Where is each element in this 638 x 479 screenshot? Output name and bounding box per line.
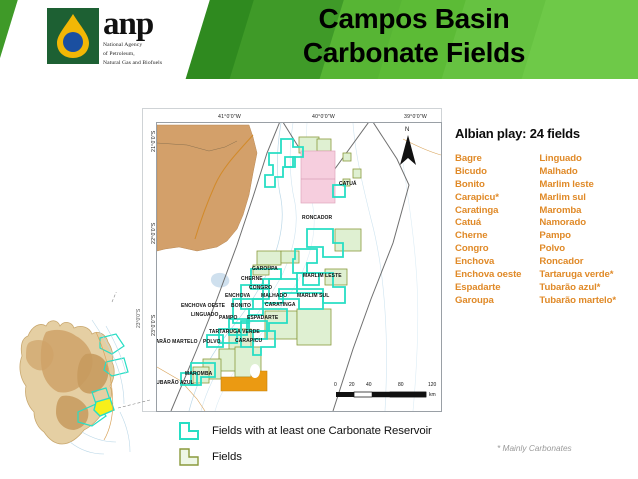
oil-drop-icon [55,13,91,59]
lon-label-39w: 39°0'0"W [404,114,427,120]
scalebar-graphic [336,391,442,399]
field-name: Enchova [455,256,521,269]
north-arrow-icon [399,135,417,167]
lon-label-41w: 41°0'0"W [218,114,241,120]
logo-subtitle-line1: National Agency [103,41,162,49]
page-title: Campos Basin Carbonate Fields [204,2,624,70]
scalebar-unit: km [429,392,436,398]
map-field-label-maromba: MAROMBA [185,371,212,377]
field-name: Tartaruga verde* [539,269,616,282]
page-header: anp National Agency of Petroleum, Natura… [0,0,638,79]
logo-subtitle-line2: of Petroleum, [103,50,162,58]
field-name: Roncador [539,256,616,269]
logo-subtitle-line3: Natural Gas and Biofuels [103,59,162,67]
carbonate-field-polygon-icon [178,421,200,441]
map-field-label-carapicu: CARAPICU [235,338,262,344]
albian-play-panel: Albian play: 24 fields Bagre Bicudo Boni… [455,126,635,308]
scalebar-tick-20: 20 [349,382,355,388]
map-field-label-congro: CONGRO [249,285,272,291]
field-name: Enchova oeste [455,269,521,282]
map-field-label-polvo: POLVO [203,339,221,345]
map-field-label-catua: CATUÁ [339,181,357,187]
legend-label: Fields [212,451,242,463]
map-field-label-cherne: CHERNE [241,276,263,282]
lon-label-40w: 40°0'0"W [312,114,335,120]
map-field-label-bonito: BONITO [231,303,251,309]
field-name: Polvo [539,243,616,256]
field-name: Caratinga [455,205,521,218]
scalebar-tick-120: 120 [428,382,436,388]
legend-label: Fields with at least one Carbonate Reser… [212,425,432,437]
field-polygon-icon [178,447,200,467]
map-field-label-tartaruga-verde: TARTARUGA VERDE [209,329,260,335]
field-name: Cherne [455,230,521,243]
brazil-inset-map: 23°0'0"S [0,292,150,472]
field-name: Linguado [539,153,616,166]
anp-logo: anp National Agency of Petroleum, Natura… [47,8,171,68]
map-field-label-enchova-oeste: ENCHOVA OESTE [181,303,225,309]
map-field-label-linguado: LINGUADO [191,312,218,318]
logo-wordmark-group: anp National Agency of Petroleum, Natura… [103,10,162,68]
map-frame[interactable]: CATUÁ RONCADOR GAROUPA CHERNE CONGRO MAR… [156,122,442,412]
field-name: Bicudo [455,166,521,179]
field-name: Tubarão martelo* [539,295,616,308]
field-name: Espadarte [455,282,521,295]
field-name: Bagre [455,153,521,166]
field-list-column-left: Bagre Bicudo Bonito Carapicu* Caratinga … [455,153,521,308]
scalebar-tick-0: 0 [334,382,337,388]
field-name: Catuá [455,217,521,230]
field-name: Bonito [455,179,521,192]
field-name: Marlim leste [539,179,616,192]
legend-item-carbonate: Fields with at least one Carbonate Reser… [178,418,478,444]
field-list-column-right: Linguado Malhado Marlim leste Marlim sul… [539,153,616,308]
scalebar-tick-40: 40 [366,382,372,388]
map-field-label-malhado: MALHADO [261,293,287,299]
field-name: Malhado [539,166,616,179]
field-name: Garoupa [455,295,521,308]
map-legend: Fields with at least one Carbonate Reser… [178,418,478,470]
map-field-label-marlim-leste: MARLIM LESTE [303,273,342,279]
albian-play-title: Albian play: 24 fields [455,126,635,141]
footnote: * Mainly Carbonates [497,443,572,453]
page-title-line1: Campos Basin [319,3,510,34]
campos-basin-map: 41°0'0"W 40°0'0"W 39°0'0"W 21°0'0"S 22°0… [142,108,442,412]
map-field-label-tubarao-martelo: TUBARÃO MARTELO [156,339,198,345]
field-name: Marlim sul [539,192,616,205]
map-field-label-marlim-sul: MARLIM SUL [297,293,329,299]
map-field-label-pampo: PAMPO [219,315,237,321]
field-name: Pampo [539,230,616,243]
map-field-label-tubarao-azul: TUBARÃO AZUL [156,380,194,386]
logo-wordmark: anp [103,10,162,40]
inset-coord-label: 23°0'0"S [136,308,142,328]
scalebar-tick-80: 80 [398,382,404,388]
legend-item-fields: Fields [178,444,478,470]
field-name: Carapicu* [455,192,521,205]
field-list-columns: Bagre Bicudo Bonito Carapicu* Caratinga … [455,153,635,308]
map-field-label-espadarte: ESPADARTE [247,315,278,321]
page-title-line2: Carbonate Fields [204,36,624,70]
map-field-label-enchova: ENCHOVA [225,293,250,299]
field-name: Maromba [539,205,616,218]
map-field-label-garoupa: GAROUPA [252,266,278,272]
map-field-label-caratinga: CARATINGA [265,302,296,308]
north-label: N [405,127,409,133]
map-field-label-roncador: RONCADOR [302,215,332,221]
brazil-inset-graphic: 23°0'0"S [0,292,150,472]
field-name: Namorado [539,217,616,230]
field-name: Tubarão azul* [539,282,616,295]
field-name: Congro [455,243,521,256]
